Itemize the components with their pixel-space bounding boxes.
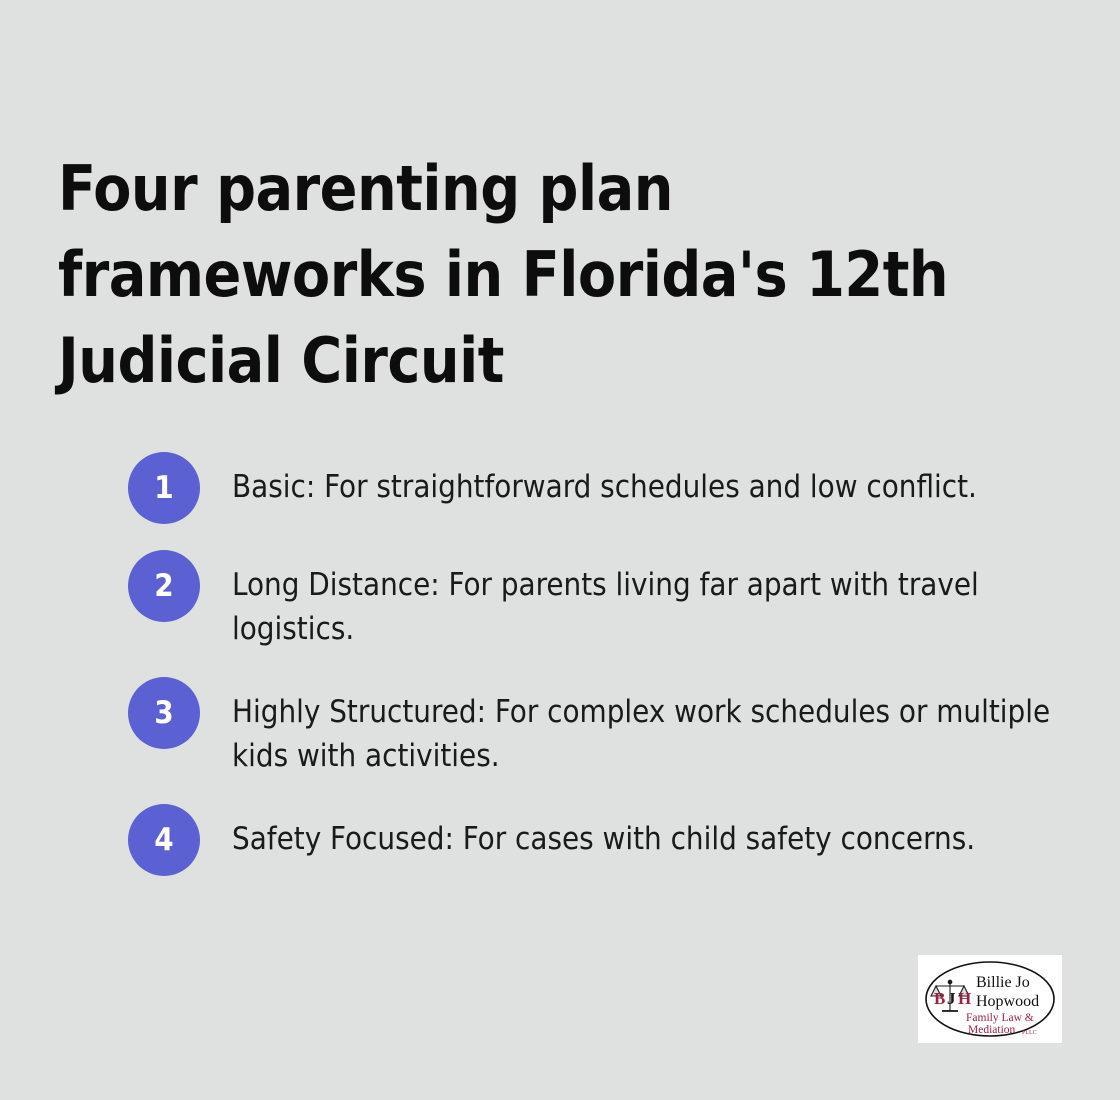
logo-artwork: B J H Billie Jo Hopwood Family Law & Med… xyxy=(918,955,1062,1043)
monogram-letter-b: B xyxy=(934,989,945,1008)
list-item-number-badge: 2 xyxy=(128,550,200,622)
law-firm-logo: B J H Billie Jo Hopwood Family Law & Med… xyxy=(918,955,1062,1043)
infographic-canvas: Four parenting plan frameworks in Florid… xyxy=(0,0,1120,1100)
logo-name-line1: Billie Jo xyxy=(976,974,1030,991)
page-title: Four parenting plan frameworks in Florid… xyxy=(58,146,1018,404)
monogram-letter-h: H xyxy=(958,989,971,1008)
list-item-text: Long Distance: For parents living far ap… xyxy=(232,550,1058,651)
list-item: 2 Long Distance: For parents living far … xyxy=(128,550,1058,651)
monogram-letter-j: J xyxy=(947,989,956,1008)
list-item-text: Safety Focused: For cases with child saf… xyxy=(232,804,1058,861)
framework-list: 1 Basic: For straightforward schedules a… xyxy=(128,452,1058,876)
list-item-number-badge: 4 xyxy=(128,804,200,876)
logo-tagline-line2: Mediation xyxy=(968,1024,1016,1036)
list-item-number-badge: 3 xyxy=(128,677,200,749)
list-item-number-badge: 1 xyxy=(128,452,200,524)
list-item: 3 Highly Structured: For complex work sc… xyxy=(128,677,1058,778)
list-item-text: Highly Structured: For complex work sche… xyxy=(232,677,1058,778)
list-item: 4 Safety Focused: For cases with child s… xyxy=(128,804,1058,876)
logo-name-line2: Hopwood xyxy=(976,993,1039,1010)
logo-tagline-line1: Family Law & xyxy=(966,1012,1034,1024)
list-item-text: Basic: For straightforward schedules and… xyxy=(232,452,1058,509)
logo-entity-suffix: PLLC xyxy=(1022,1030,1037,1036)
list-item: 1 Basic: For straightforward schedules a… xyxy=(128,452,1058,524)
